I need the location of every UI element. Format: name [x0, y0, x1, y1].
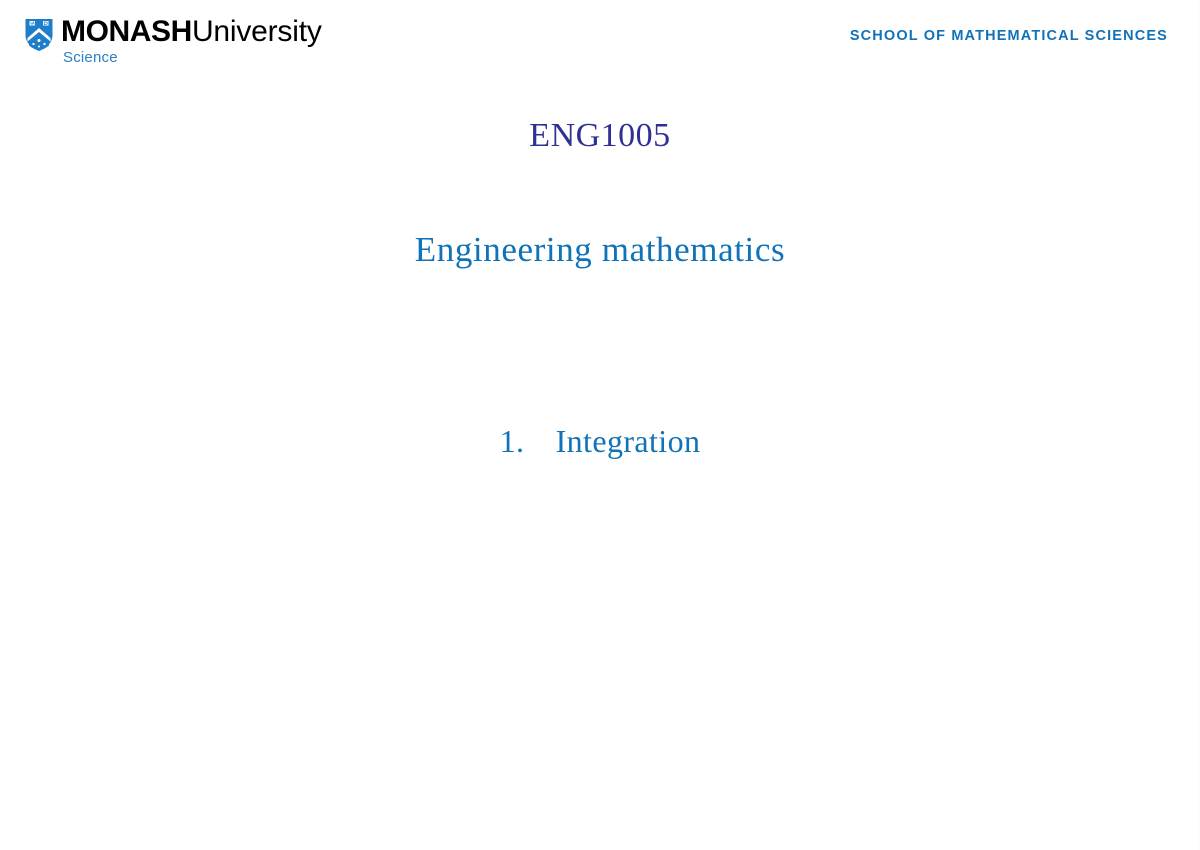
monash-wordmark: MONASHUniversity: [61, 16, 322, 47]
monash-logo-lockup: MONASHUniversity Science: [24, 16, 322, 68]
table-of-contents: 1.Integration: [0, 419, 1200, 463]
school-header-label: SCHOOL OF MATHEMATICAL SCIENCES: [850, 28, 1168, 44]
toc-item-integration[interactable]: 1.Integration: [500, 419, 701, 463]
unit-subtitle: Engineering mathematics: [0, 227, 1200, 273]
unit-code-title: ENG1005: [0, 114, 1200, 158]
wordmark-monash: MONASH: [61, 15, 192, 48]
slide-canvas: MONASHUniversity Science SCHOOL OF MATHE…: [0, 0, 1200, 850]
toc-item-number: 1.: [500, 419, 556, 463]
monash-shield-crest-icon: [24, 16, 54, 52]
faculty-label: Science: [63, 50, 322, 66]
wordmark-university: University: [192, 15, 322, 48]
monash-wordmark-block: MONASHUniversity Science: [61, 16, 322, 66]
toc-item-label: Integration: [556, 419, 701, 463]
